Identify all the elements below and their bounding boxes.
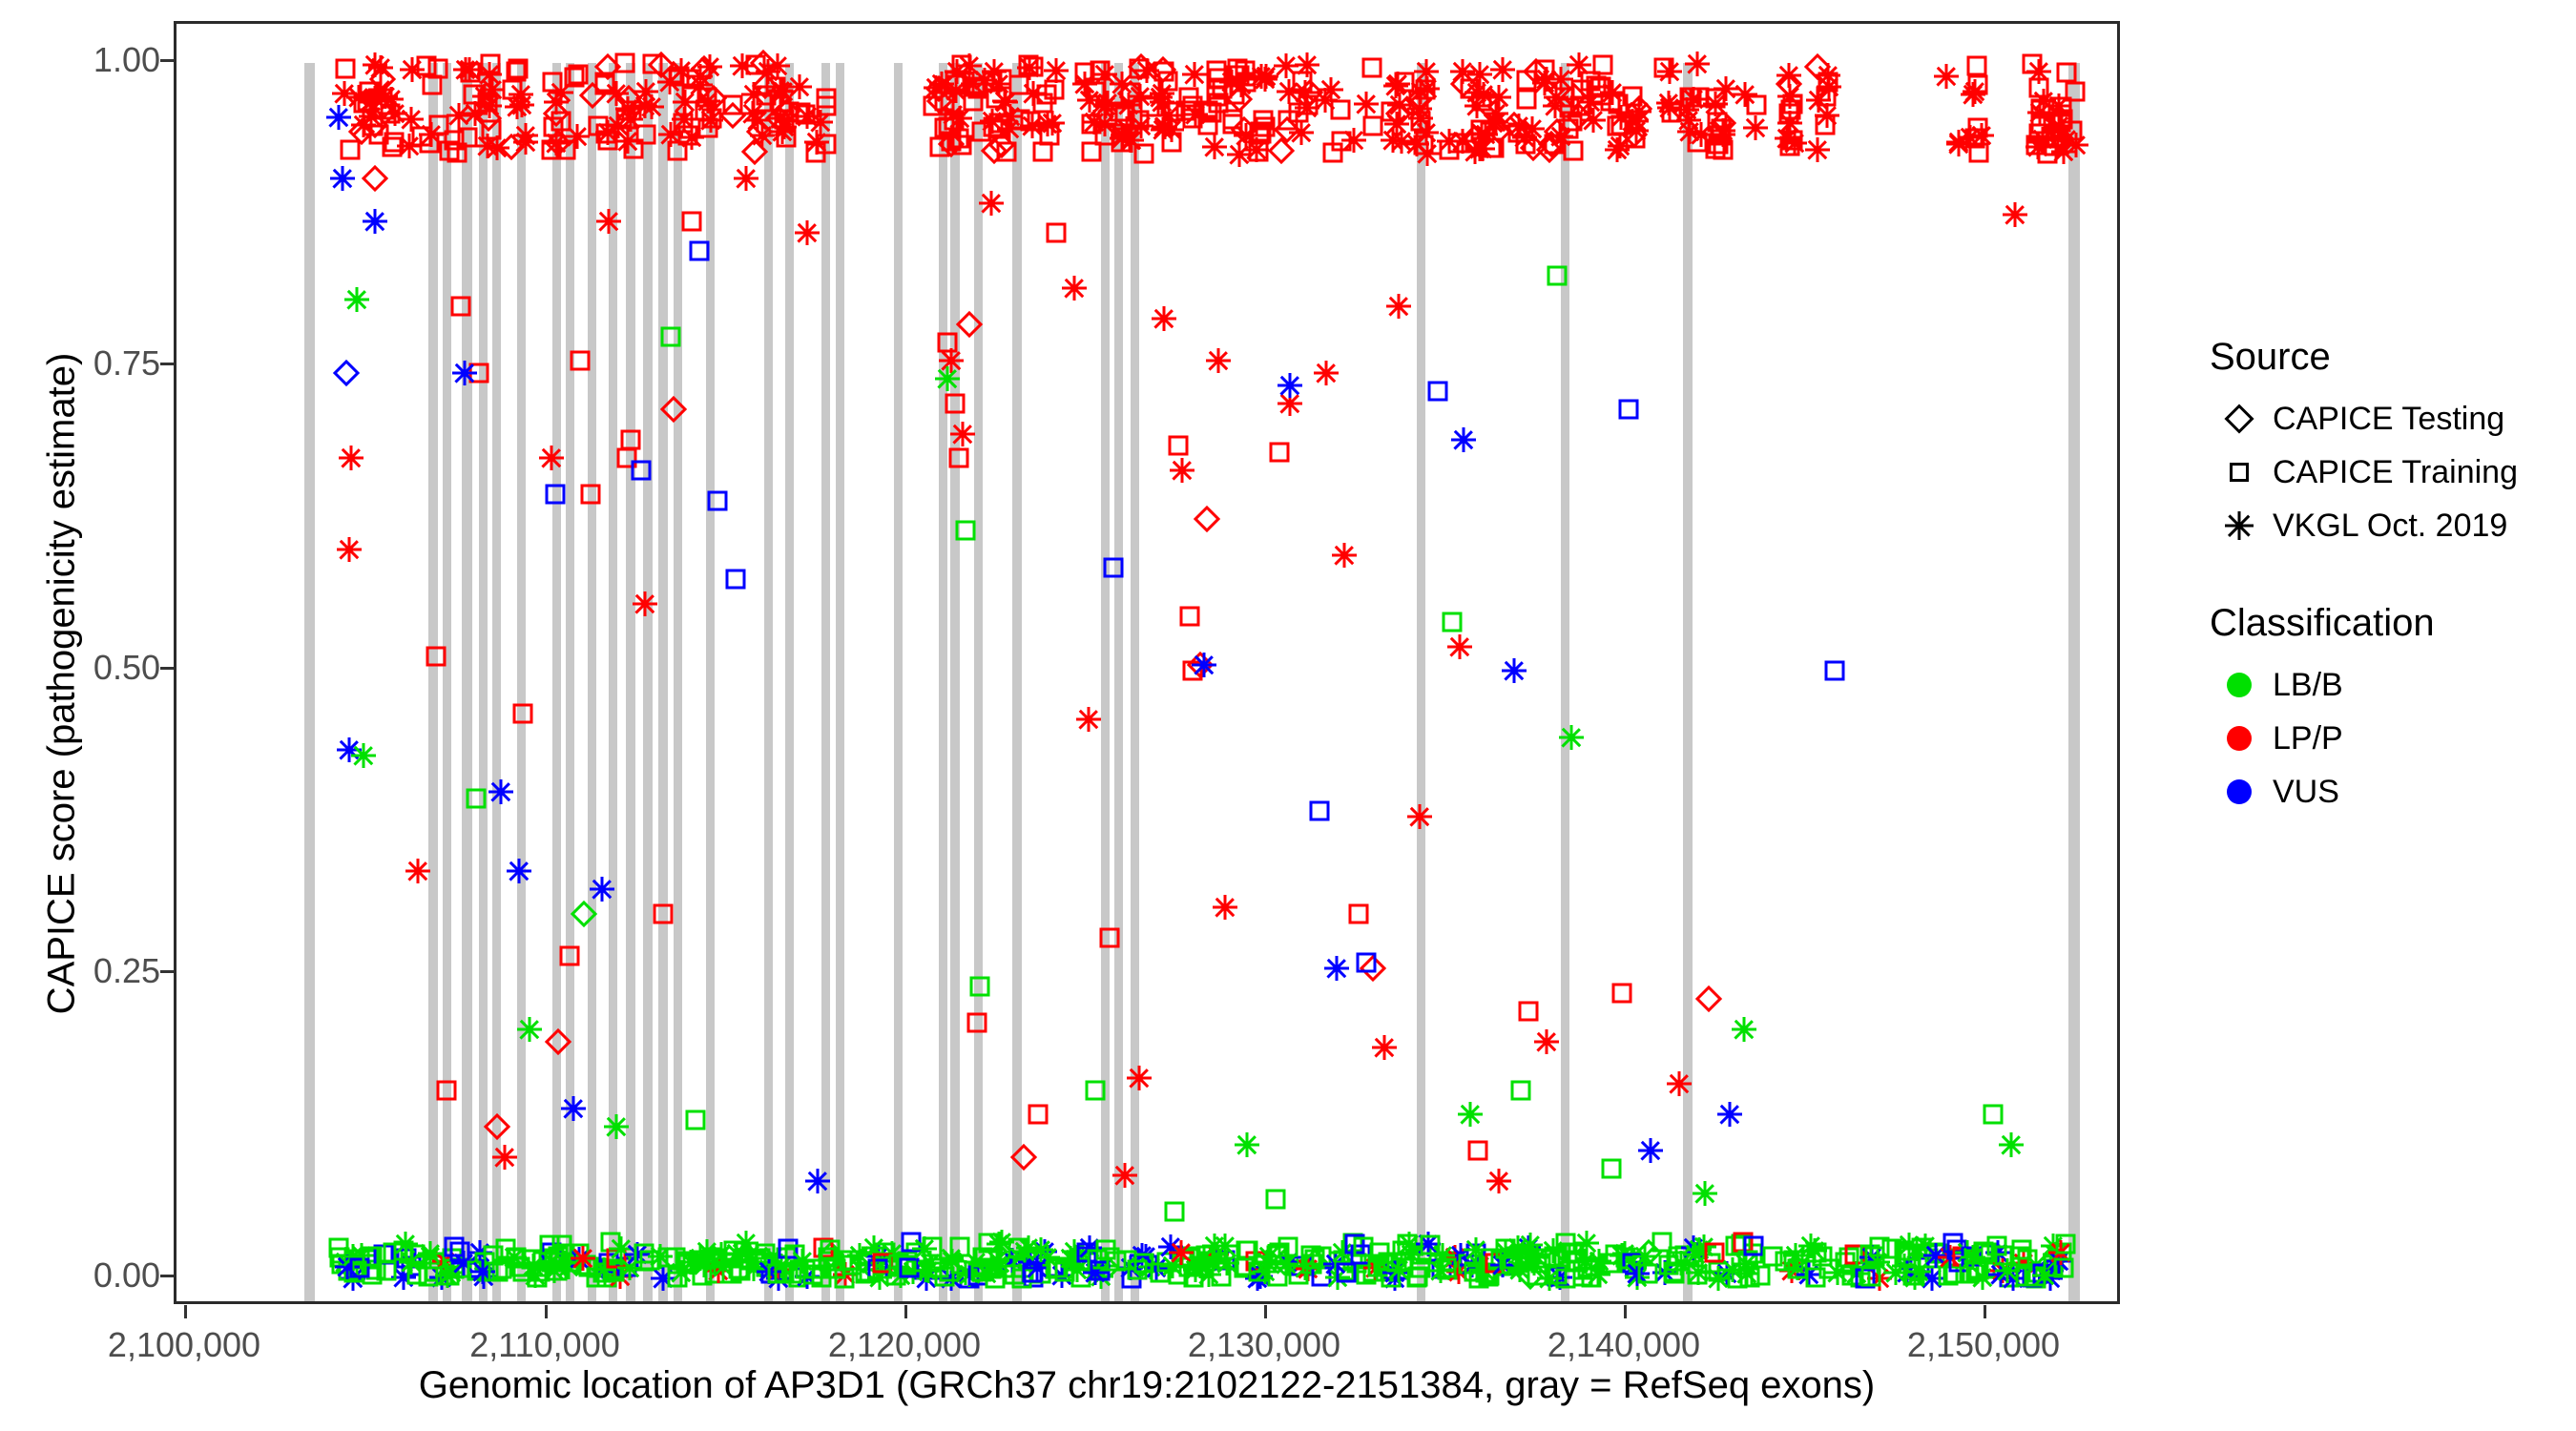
scatter-point [675, 1255, 696, 1275]
scatter-point [1491, 1249, 1511, 1269]
scatter-point [1544, 118, 1570, 145]
scatter-point [370, 93, 397, 119]
scatter-point [1207, 60, 1227, 80]
scatter-point [1658, 1255, 1678, 1275]
scatter-point [1447, 634, 1472, 659]
scatter-point [1234, 1257, 1254, 1277]
scatter-point [1763, 1247, 1783, 1267]
scatter-point [604, 1114, 629, 1139]
scatter-point [1044, 80, 1064, 100]
scatter-point [556, 1255, 581, 1279]
scatter-point [1432, 1258, 1452, 1278]
scatter-point [1133, 143, 1153, 163]
scatter-point [1212, 79, 1232, 99]
scatter-point [482, 120, 502, 140]
scatter-point [1331, 132, 1351, 152]
scatter-point [2047, 129, 2067, 149]
scatter-point [545, 130, 571, 156]
scatter-point [1344, 1234, 1364, 1254]
scatter-point [1428, 381, 1448, 401]
scatter-point [1151, 117, 1175, 142]
scatter-point [688, 73, 713, 97]
scatter-point [625, 1242, 650, 1267]
scatter-point [1465, 93, 1489, 118]
scatter-point [750, 123, 775, 148]
legend-title-source: Source [2210, 336, 2568, 379]
scatter-point [804, 130, 829, 155]
scatter-point [1964, 129, 1984, 149]
scatter-point [1472, 1258, 1497, 1283]
scatter-point [349, 1257, 369, 1277]
scatter-point [417, 55, 437, 75]
scatter-point [1128, 1260, 1148, 1280]
scatter-point [1244, 137, 1269, 162]
scatter-point [1815, 115, 1835, 135]
scatter-point [467, 1258, 487, 1278]
scatter-point [648, 1244, 673, 1269]
scatter-point [669, 58, 694, 83]
legend-item-lpp[interactable]: LP/P [2206, 712, 2568, 765]
scatter-point [1092, 62, 1117, 87]
scatter-point [1782, 94, 1802, 114]
scatter-point [766, 1266, 791, 1291]
scatter-point [1525, 1245, 1549, 1270]
scatter-point [384, 1243, 404, 1263]
scatter-point [1797, 1262, 1821, 1287]
scatter-point [897, 1251, 917, 1271]
scatter-point [1062, 276, 1087, 301]
scatter-point [1235, 1132, 1259, 1157]
scatter-point [1065, 1257, 1090, 1282]
scatter-point [711, 1255, 736, 1279]
scatter-point [689, 241, 709, 261]
scatter-point [657, 70, 682, 94]
scatter-point [1913, 1234, 1938, 1258]
legend-item-vus[interactable]: VUS [2206, 765, 2568, 819]
scatter-point [512, 703, 532, 723]
scatter-point [1555, 1268, 1575, 1288]
scatter-point [634, 79, 658, 104]
scatter-point [1351, 1245, 1371, 1265]
scatter-point [1046, 1257, 1066, 1277]
scatter-point [1238, 1241, 1258, 1261]
scatter-point [1732, 1234, 1752, 1254]
scatter-point [951, 54, 971, 74]
scatter-point [1566, 103, 1592, 130]
scatter-point [2039, 1258, 2064, 1283]
scatter-point [986, 89, 1006, 109]
scatter-point [633, 93, 657, 118]
scatter-point [945, 393, 966, 413]
scatter-point [1788, 1258, 1808, 1278]
scatter-point [1202, 102, 1222, 122]
scatter-point [695, 1239, 719, 1264]
scatter-point [997, 116, 1022, 141]
scatter-point [1077, 1243, 1097, 1263]
scatter-point [373, 84, 398, 109]
scatter-point [1165, 1201, 1185, 1221]
scatter-point [1236, 72, 1257, 92]
scatter-point [1153, 61, 1174, 81]
legend-title-classification: Classification [2210, 602, 2568, 645]
scatter-point [982, 1257, 1002, 1277]
scatter-point [1534, 1029, 1559, 1054]
scatter-point [1534, 67, 1559, 92]
scatter-point [1045, 1259, 1065, 1279]
scatter-point [571, 1246, 595, 1271]
scatter-point [419, 133, 439, 153]
scatter-point [1855, 1268, 1875, 1288]
scatter-point [552, 1251, 577, 1275]
scatter-point [1415, 79, 1435, 99]
scatter-point [549, 80, 573, 105]
scatter-point [1740, 1268, 1760, 1288]
scatter-point [765, 1257, 790, 1282]
scatter-point [569, 1243, 589, 1263]
scatter-point [1270, 442, 1290, 462]
scatter-point [724, 1241, 749, 1266]
y-tick-label-2: 0.75 [27, 346, 160, 381]
scatter-point [477, 92, 497, 112]
scatter-point [1010, 109, 1030, 129]
scatter-point [868, 1259, 888, 1279]
scatter-point [452, 361, 477, 385]
legend-item-capice-training[interactable]: CAPICE Training [2206, 446, 2568, 499]
scatter-point [924, 75, 948, 100]
scatter-point [1288, 102, 1308, 122]
scatter-point [513, 130, 538, 155]
legend-item-lbb[interactable]: LB/B [2206, 658, 2568, 712]
scatter-point [818, 1241, 844, 1268]
scatter-point [1104, 557, 1124, 577]
scatter-point [1608, 134, 1632, 158]
scatter-point [633, 591, 657, 616]
dot-icon [2206, 673, 2273, 697]
scatter-point [326, 105, 351, 130]
scatter-point [1816, 63, 1840, 88]
scatter-point [621, 101, 641, 121]
scatter-point [772, 114, 797, 139]
y-tick-label-1: 1.00 [27, 43, 160, 77]
scatter-point [1518, 1001, 1538, 1021]
scatter-point [1999, 1132, 2024, 1157]
scatter-point [400, 57, 425, 82]
scatter-point [1693, 1181, 1717, 1206]
scatter-point [928, 1258, 948, 1278]
scatter-point [1720, 1257, 1745, 1282]
scatter-point [1460, 78, 1480, 98]
dot-icon [2206, 726, 2273, 751]
scatter-point [2026, 1269, 2046, 1289]
scatter-point [979, 191, 1004, 216]
scatter-point [1532, 71, 1557, 95]
scatter-point [1860, 1245, 1880, 1265]
scatter-point [1623, 86, 1643, 106]
scatter-point [1213, 1234, 1237, 1258]
scatter-point [1298, 94, 1318, 114]
scatter-point [1188, 1254, 1213, 1278]
scatter-point [757, 1259, 781, 1284]
scatter-point [1206, 79, 1226, 99]
scatter-point [787, 74, 812, 99]
scatter-point [1236, 1240, 1256, 1260]
scatter-point [1556, 1233, 1576, 1253]
scatter-point [1413, 135, 1433, 155]
scatter-point [1100, 1247, 1120, 1267]
scatter-point [1984, 1105, 2004, 1125]
scatter-point [1192, 1245, 1216, 1270]
scatter-point [677, 125, 697, 145]
scatter-point [1963, 79, 1987, 104]
scatter-point [730, 1241, 755, 1266]
scatter-point [1527, 1266, 1548, 1286]
scatter-point [1190, 1253, 1215, 1277]
scatter-point [1183, 661, 1203, 681]
scatter-point [1934, 64, 1959, 89]
scatter-point [1354, 92, 1379, 116]
scatter-point [1465, 1243, 1485, 1263]
scatter-point [1626, 128, 1646, 148]
scatter-point [363, 1246, 383, 1266]
scatter-point [980, 109, 1005, 134]
scatter-point [1293, 1255, 1318, 1280]
scatter-point [609, 1236, 634, 1261]
scatter-point [1807, 1243, 1827, 1263]
scatter-point [700, 85, 727, 112]
scatter-point [1965, 1261, 1985, 1281]
scatter-point [1689, 122, 1714, 147]
scatter-point [1130, 58, 1150, 78]
scatter-point [1274, 116, 1300, 143]
scatter-point [1012, 1239, 1037, 1264]
scatter-point [484, 1113, 510, 1140]
scatter-point [470, 1259, 495, 1284]
scatter-point [1656, 91, 1681, 115]
scatter-point [1314, 361, 1339, 385]
scatter-point [698, 108, 723, 133]
scatter-point [997, 141, 1017, 161]
scatter-point [1869, 1237, 1889, 1257]
scatter-point [1612, 1241, 1637, 1266]
scatter-point [1386, 1253, 1406, 1273]
scatter-point [1706, 88, 1726, 108]
scatter-point [405, 859, 430, 883]
scatter-point [923, 95, 943, 115]
scatter-point [1332, 543, 1357, 568]
scatter-point [719, 102, 746, 129]
scatter-point [595, 120, 620, 145]
scatter-point [565, 124, 590, 149]
scatter-point [790, 103, 810, 123]
scatter-point [945, 59, 969, 84]
scatter-point [1010, 1143, 1037, 1170]
scatter-point [1995, 1246, 2015, 1266]
scatter-point [1382, 1253, 1402, 1273]
scatter-point [850, 1247, 877, 1274]
scatter-point [952, 135, 972, 155]
scatter-point [1378, 1252, 1398, 1272]
scatter-point [1568, 1253, 1588, 1273]
scatter-point [1778, 103, 1798, 123]
scatter-point [545, 1027, 571, 1054]
scatter-point [1725, 1236, 1745, 1256]
scatter-point [2029, 78, 2049, 98]
scatter-point [1363, 1255, 1388, 1280]
scatter-point [1970, 1265, 1995, 1290]
scatter-point [586, 1268, 606, 1288]
scatter-point [724, 1241, 744, 1261]
scatter-point [987, 1251, 1012, 1275]
scatter-point [1559, 725, 1584, 750]
scatter-point [1622, 1255, 1647, 1280]
scatter-point [756, 86, 776, 106]
scatter-point [1781, 99, 1801, 119]
scatter-point [1112, 1163, 1137, 1188]
scatter-point [1561, 82, 1588, 109]
scatter-point [1581, 72, 1601, 92]
scatter-point [795, 1264, 820, 1289]
scatter-point [1490, 57, 1515, 82]
scatter-point [968, 1266, 988, 1286]
scatter-point [1356, 952, 1376, 972]
scatter-point [989, 1230, 1014, 1255]
scatter-point [2037, 143, 2057, 163]
scatter-point [1784, 1250, 1804, 1270]
scatter-point [1254, 64, 1278, 89]
scatter-point [602, 1259, 622, 1279]
scatter-point [512, 1262, 532, 1282]
scatter-point [651, 1266, 675, 1291]
scatter-point [779, 1238, 799, 1258]
scatter-point [1035, 1245, 1060, 1270]
scatter-point [728, 1258, 748, 1278]
scatter-point [988, 132, 1015, 158]
y-tick-mark [160, 667, 174, 670]
scatter-point [1367, 1257, 1387, 1277]
scatter-point [1278, 1236, 1298, 1256]
scatter-point [1036, 85, 1056, 105]
scatter-point [561, 1096, 586, 1121]
legend-item-vkgl[interactable]: VKGL Oct. 2019 [2206, 499, 2568, 552]
scatter-point [1892, 1254, 1917, 1278]
scatter-point [1567, 52, 1591, 77]
scatter-point [1924, 1243, 1944, 1263]
scatter-point [1211, 1267, 1231, 1287]
scatter-point [1690, 87, 1710, 107]
scatter-point [1516, 1250, 1541, 1275]
scatter-point [1323, 1252, 1348, 1276]
scatter-point [1096, 1240, 1116, 1260]
legend-item-capice-testing[interactable]: CAPICE Testing [2206, 392, 2568, 446]
scatter-point [559, 946, 579, 966]
scatter-point [679, 125, 704, 150]
scatter-point [1169, 436, 1189, 456]
scatter-point [1158, 1234, 1183, 1259]
scatter-point [1428, 1258, 1453, 1283]
scatter-point [1251, 124, 1271, 144]
scatter-point [817, 88, 837, 108]
scatter-point [428, 59, 448, 79]
scatter-point [945, 111, 965, 131]
scatter-point [1451, 427, 1476, 452]
scatter-point [1004, 1265, 1024, 1285]
scatter-point [774, 1262, 794, 1282]
scatter-point [1088, 1249, 1108, 1269]
scatter-point [1851, 1268, 1871, 1288]
scatter-point [888, 1263, 913, 1288]
scatter-point [617, 1255, 642, 1280]
scatter-point [393, 1241, 413, 1261]
scatter-point [1687, 133, 1707, 153]
scatter-point [1084, 1257, 1109, 1282]
x-tick-mark [1264, 1305, 1267, 1318]
scatter-point [1183, 102, 1208, 127]
scatter-point [1360, 955, 1386, 982]
scatter-point [693, 1266, 713, 1286]
scatter-point [1383, 73, 1408, 98]
scatter-point [1865, 1246, 1885, 1266]
scatter-point [790, 1249, 815, 1274]
scatter-point [1152, 114, 1176, 139]
scatter-point [988, 118, 1008, 138]
scatter-point [1485, 138, 1505, 158]
scatter-point [588, 1257, 608, 1277]
scatter-point [1122, 1269, 1142, 1289]
scatter-point [425, 1262, 445, 1282]
scatter-point [1013, 1258, 1033, 1278]
scatter-point [1120, 83, 1140, 103]
scatter-point [1637, 1263, 1657, 1283]
scatter-point [2046, 1249, 2071, 1274]
scatter-point [1590, 77, 1610, 97]
scatter-point [1312, 1266, 1332, 1286]
scatter-point [1031, 1264, 1051, 1284]
scatter-point [2027, 1262, 2047, 1282]
scatter-point [1404, 132, 1429, 156]
scatter-point [914, 1266, 939, 1291]
scatter-point [1334, 1261, 1354, 1281]
scatter-point [2011, 1240, 2031, 1260]
scatter-point [475, 105, 502, 132]
scatter-point [1734, 1233, 1754, 1253]
scatter-point [949, 129, 969, 149]
scatter-point [1999, 1267, 2019, 1287]
scatter-point [357, 92, 377, 112]
scatter-point [1669, 1251, 1693, 1275]
scatter-point [2017, 1250, 2037, 1270]
scatter-point [935, 1266, 955, 1286]
scatter-point [1469, 1268, 1489, 1288]
scatter-point [1706, 1266, 1731, 1291]
scatter-point [1172, 1246, 1192, 1266]
scatter-point [902, 1233, 922, 1253]
scatter-point [1969, 1260, 1989, 1280]
scatter-point [1897, 1233, 1922, 1257]
scatter-point [1300, 1245, 1320, 1265]
scatter-point [1296, 1256, 1320, 1281]
scatter-point [426, 646, 447, 666]
scatter-point [471, 1264, 496, 1289]
scatter-point [1619, 400, 1639, 420]
scatter-point [1152, 306, 1176, 331]
scatter-point [1245, 1266, 1270, 1291]
scatter-point [422, 74, 442, 94]
scatter-point [1961, 82, 1985, 107]
scatter-point [733, 1249, 753, 1269]
scatter-point [1226, 86, 1253, 113]
scatter-point [970, 977, 990, 997]
scatter-point [658, 122, 683, 147]
